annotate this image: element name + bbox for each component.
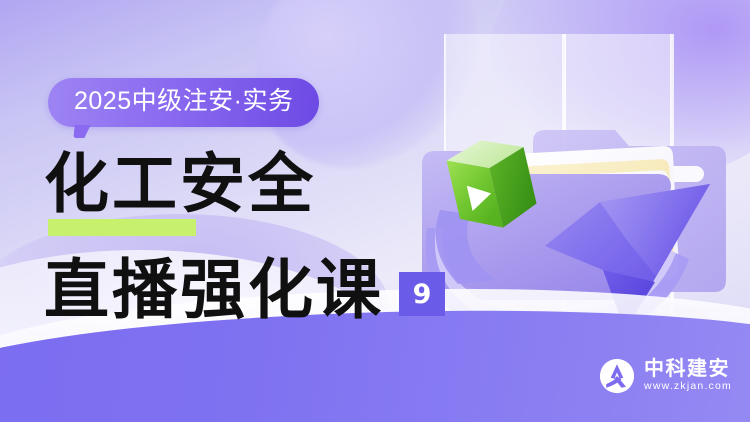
badge-tail — [73, 125, 90, 138]
course-category-badge-pill: 2025中级注安·实务 — [48, 78, 319, 127]
course-promo-banner: 2025中级注安·实务 化工安全 直播强化课 9 中科建安 www.zkjan.… — [0, 0, 750, 422]
brand-logo-text: 中科建安 www.zkjan.com — [644, 358, 732, 394]
headline-line-2: 直播强化课 — [44, 258, 384, 323]
episode-number-badge: 9 — [399, 272, 445, 316]
brand-url: www.zkjan.com — [644, 380, 732, 394]
zkjan-circle-mark-icon — [599, 358, 635, 394]
headline-line-1: 化工安全 — [44, 152, 316, 217]
course-category-badge: 2025中级注安·实务 — [48, 78, 319, 127]
course-category-label: 2025中级注安·实务 — [74, 87, 293, 115]
brand-name: 中科建安 — [644, 358, 732, 380]
brand-logo: 中科建安 www.zkjan.com — [599, 358, 732, 394]
